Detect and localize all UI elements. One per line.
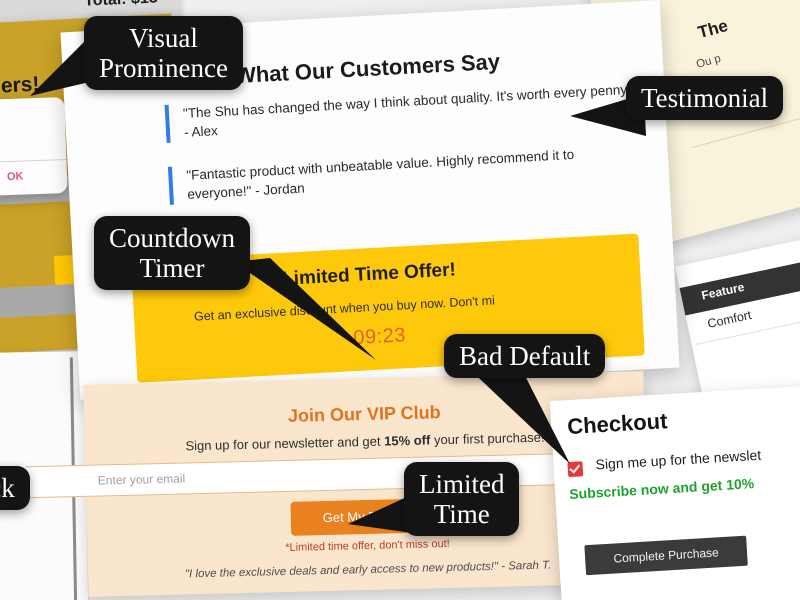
vip-subtitle-prefix: Sign up for our newsletter and get (185, 434, 384, 454)
complete-purchase-label: Complete Purchase (585, 544, 748, 568)
comparison-table-header: Feature (680, 249, 800, 316)
cart-total-label: Total: $13 (84, 0, 158, 11)
countdown-timer-callout-tail (230, 256, 380, 366)
vip-subtitle-discount: 15% off (384, 432, 431, 448)
mini-dialog-divider (0, 159, 66, 166)
callout-low-stock: w Stock (0, 466, 30, 510)
callout-testimonial: Testimonial (626, 76, 783, 120)
screenshot-stage: Total: $13 ...mers! ...d a ...e! Offer .… (0, 0, 800, 600)
comparison-row-comfort: Comfort (706, 308, 752, 331)
cream-card-title: The (696, 16, 730, 43)
vip-email-placeholder: Enter your email (98, 471, 186, 487)
testimonials-heading: What Our Customers Say (234, 49, 500, 89)
comparison-header-feature: Feature (700, 280, 745, 303)
callout-visual-prominence: Visual Prominence (84, 16, 243, 90)
callout-limited-time: Limited Time (404, 462, 519, 536)
newsletter-checkbox-label: Sign me up for the newslet (595, 447, 761, 473)
callout-bad-default: Bad Default (444, 334, 605, 378)
mini-dialog-ok-button[interactable]: OK (7, 171, 24, 184)
callout-countdown-timer: Countdown Timer (94, 216, 250, 290)
checkout-title: Checkout (567, 408, 669, 440)
complete-purchase-button[interactable]: Complete Purchase (584, 536, 747, 576)
comparison-table-card: Feature Comfort (675, 217, 800, 414)
mini-offer-dialog[interactable]: ...e! Offer ...chen OK (0, 97, 68, 199)
checkout-green-promo: Subscribe now and get 10% (569, 475, 755, 502)
checkout-card: Checkout Sign me up for the newslet Subs… (550, 383, 800, 600)
